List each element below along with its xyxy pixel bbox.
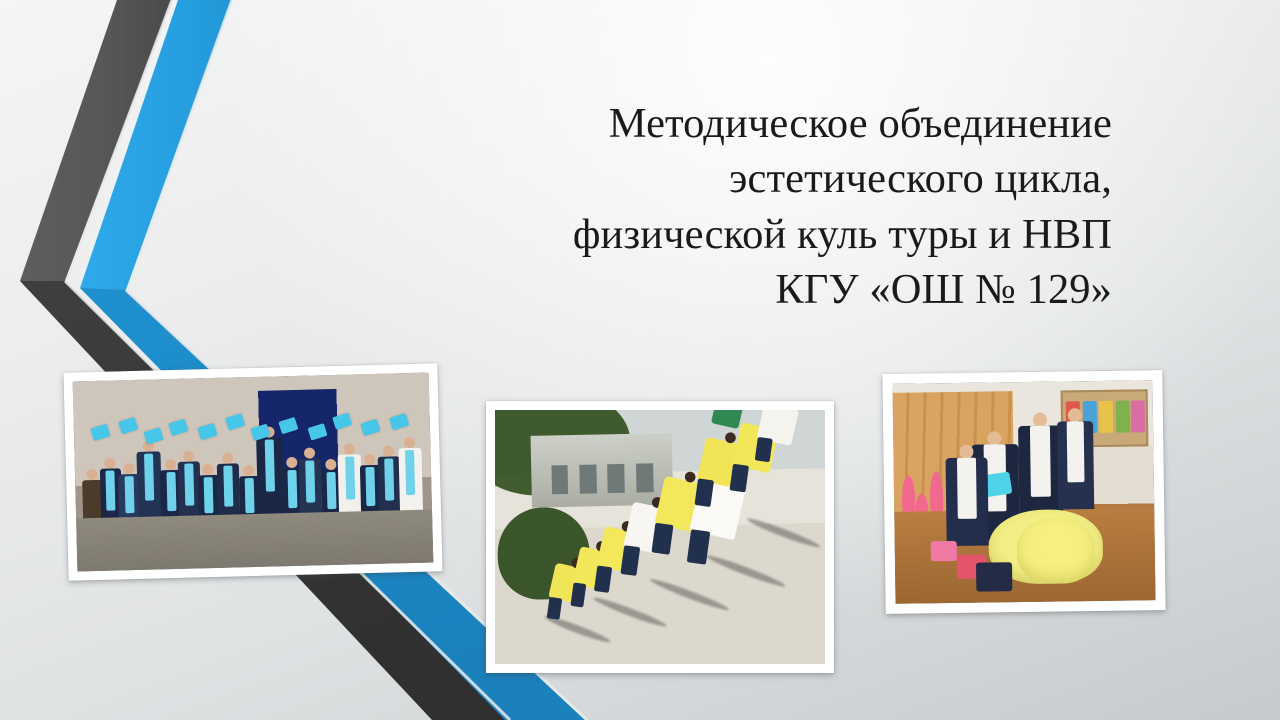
photo-outdoor-exercise <box>486 401 834 673</box>
page-title: Методическое объединение эстетического ц… <box>300 96 1112 317</box>
title-slide: Методическое объединение эстетического ц… <box>0 0 1280 720</box>
photo-school-assembly-image <box>73 373 434 572</box>
photo-school-assembly <box>63 363 442 580</box>
photo-craft-lesson <box>882 370 1165 614</box>
photo-outdoor-exercise-image <box>495 410 825 664</box>
photo-craft-lesson-image <box>892 380 1155 604</box>
